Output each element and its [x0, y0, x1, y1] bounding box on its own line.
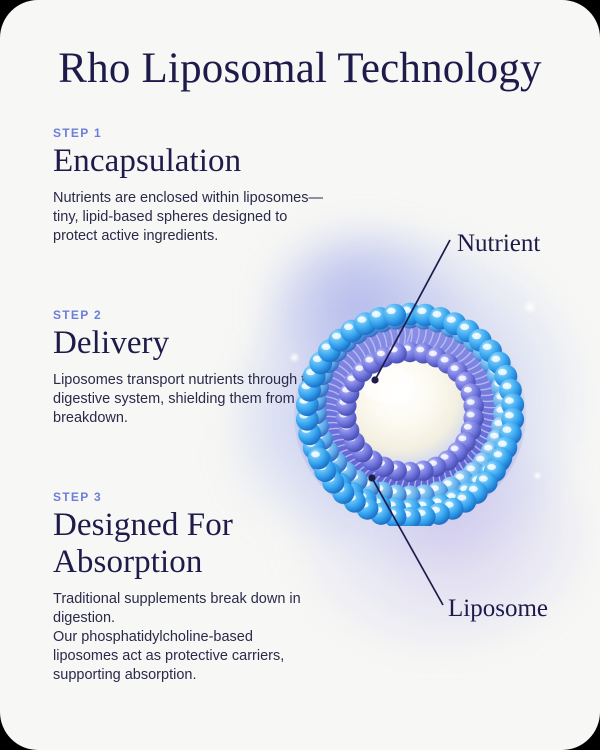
callout-label-nutrient: Nutrient	[457, 229, 540, 258]
page-title: Rho Liposomal Technology	[0, 44, 600, 94]
step-2-body: Liposomes transport nutrients through th…	[53, 371, 323, 428]
step-2-title: Delivery	[53, 325, 323, 362]
step-3-title: Designed For Absorption	[53, 507, 323, 581]
lipid-head-inner	[386, 343, 406, 363]
lipid-head-outer	[383, 304, 406, 327]
liposome-diagram	[292, 296, 528, 526]
step-3-body: Traditional supplements break down in di…	[53, 590, 315, 685]
sparkle-icon	[533, 471, 542, 480]
step-1-title: Encapsulation	[53, 143, 323, 180]
step-2-label: STEP 2	[53, 308, 323, 322]
step-1-label: STEP 1	[53, 126, 323, 140]
step-1-body: Nutrients are enclosed within liposomes—…	[53, 189, 323, 246]
lipid-head-outer-rim	[308, 447, 330, 469]
step-block-3: STEP 3 Designed For Absorption Tradition…	[53, 490, 323, 685]
step-block-2: STEP 2 Delivery Liposomes transport nutr…	[53, 308, 323, 428]
step-3-label: STEP 3	[53, 490, 323, 504]
infographic-card: Rho Liposomal Technology STEP 1 Encapsul…	[0, 0, 600, 750]
step-block-1: STEP 1 Encapsulation Nutrients are enclo…	[53, 126, 323, 246]
callout-label-liposome: Liposome	[448, 594, 548, 623]
